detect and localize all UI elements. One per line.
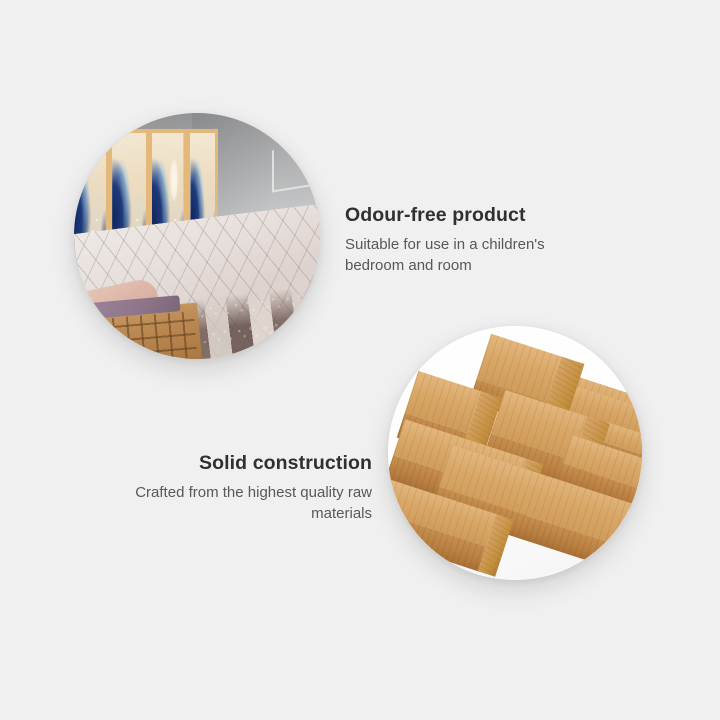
feature-description-odour-free: Suitable for use in a children's bedroom… [345, 234, 605, 276]
feature-odour-free: Odour-free product Suitable for use in a… [345, 204, 605, 276]
bench-lattice [98, 311, 198, 359]
bedroom-photo-circle [74, 113, 320, 359]
bedroom-scene [74, 113, 320, 359]
artwork-cloud [170, 159, 178, 201]
feature-title-solid-construction: Solid construction [110, 452, 372, 475]
feature-description-solid-construction: Crafted from the highest quality raw mat… [110, 482, 372, 524]
feature-solid-construction: Solid construction Crafted from the high… [110, 452, 372, 524]
timber-scene [388, 326, 642, 580]
infographic-stage: Odour-free product Suitable for use in a… [0, 0, 720, 720]
timber-photo-circle [388, 326, 642, 580]
wall-picture-frame [272, 144, 316, 193]
feature-title-odour-free: Odour-free product [345, 204, 605, 227]
